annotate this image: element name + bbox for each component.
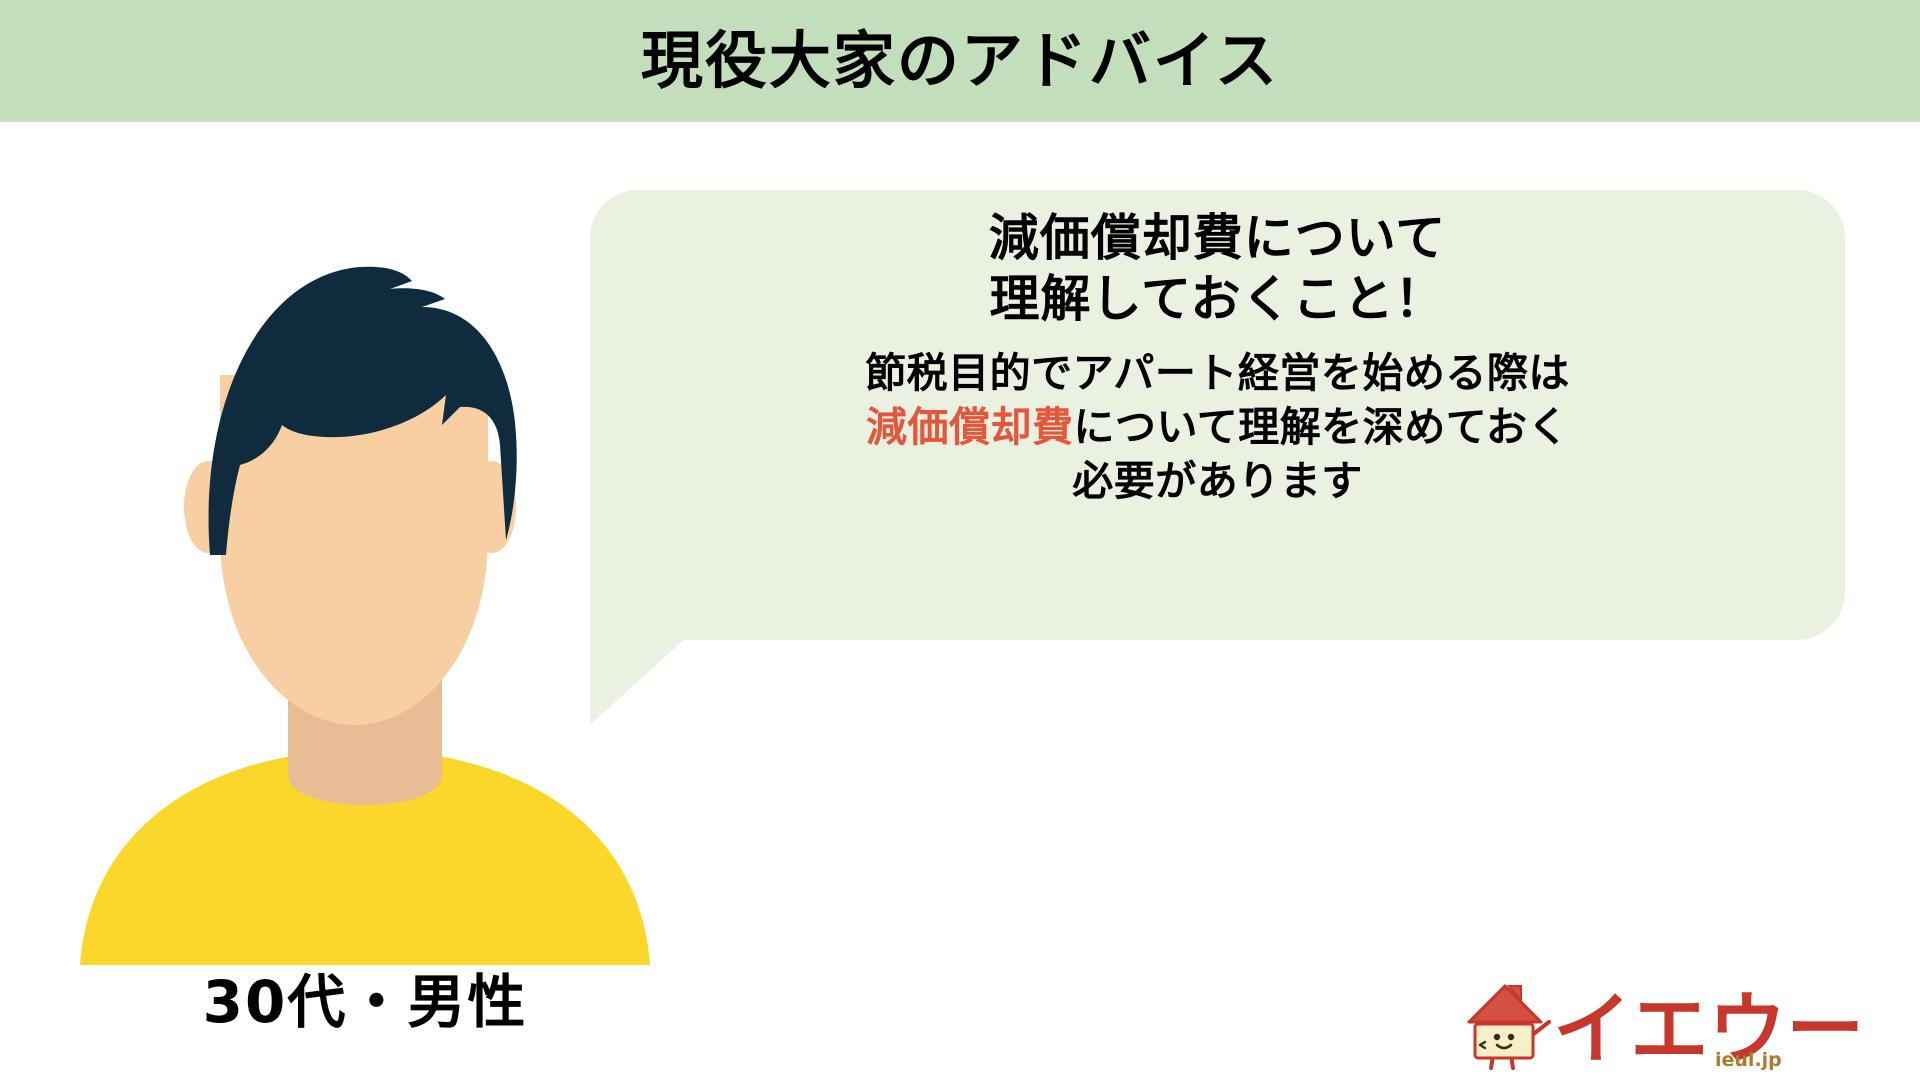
bubble-body-line-1: 節税目的でアパート経営を始める際は	[630, 346, 1805, 400]
avatar-caption: 30代・男性	[60, 955, 670, 1039]
avatar	[60, 255, 670, 965]
bubble-body-line-2: 減価償却費について理解を深めておく	[630, 400, 1805, 454]
bubble-body-line-3: 必要があります	[630, 454, 1805, 508]
house-mascot-icon	[1469, 986, 1549, 1068]
logo-domain: ieul.jp	[1715, 1049, 1782, 1071]
bubble-heading-line-2: 理解しておくこと！	[630, 269, 1805, 330]
header-banner: 現役大家のアドバイス	[0, 0, 1920, 122]
bubble-heading: 減価償却費について 理解しておくこと！	[630, 208, 1805, 330]
page-title: 現役大家のアドバイス	[641, 30, 1279, 92]
bubble-body-highlight: 減価償却費	[866, 403, 1074, 451]
bubble-body: 節税目的でアパート経営を始める際は 減価償却費について理解を深めておく 必要があ…	[630, 346, 1805, 508]
bubble-body-line-2-rest: について理解を深めておく	[1073, 403, 1569, 451]
bubble-heading-line-1: 減価償却費について	[630, 208, 1805, 269]
speech-bubble: 減価償却費について 理解しておくこと！ 節税目的でアパート経営を始める際は 減価…	[590, 190, 1845, 640]
logo-wordmark: イエウール	[1553, 985, 1865, 1072]
logo[interactable]: イエウール ieul.jp	[1465, 964, 1865, 1072]
